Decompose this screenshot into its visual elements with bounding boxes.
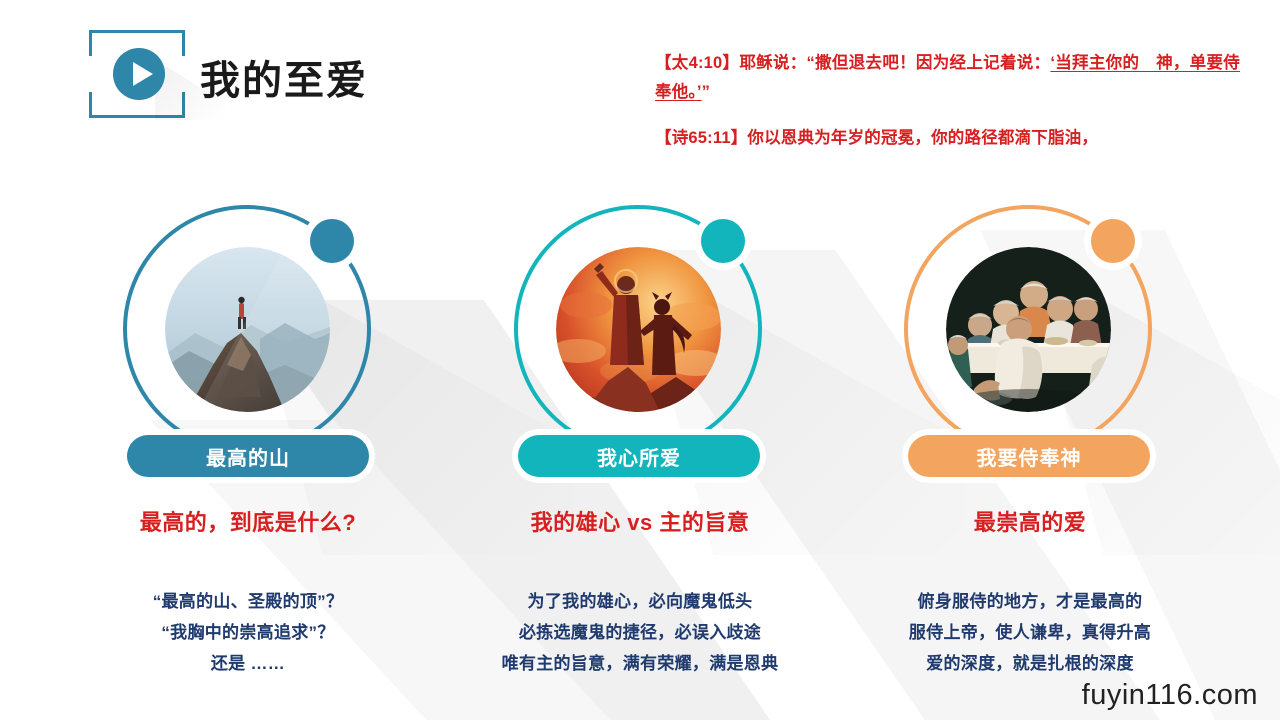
body-line: 唯有主的旨意，满有荣耀，满是恩典 (450, 648, 830, 679)
column-heading-2: 我的雄心 vs 主的旨意 (470, 505, 810, 537)
card-accent-dot (310, 219, 354, 263)
body-line: 还是 …… (78, 648, 418, 679)
frame-right-top-stub (182, 30, 185, 56)
frame-left-top-stub (89, 30, 92, 56)
body-line: “最高的山、圣殿的顶”？ (78, 586, 418, 617)
mountain-summit-climber-photo (165, 247, 330, 412)
site-watermark: fuyin116.com (1082, 679, 1258, 712)
body-line: 服侍上帝，使人谦卑，真得升高 (862, 617, 1198, 648)
card-accent-dot (701, 219, 745, 263)
card-accent-dot (1091, 219, 1135, 263)
verse1-plain-a: 【太4:10】耶稣说：“撒但退去吧！因为经上记着说： (655, 54, 1050, 72)
frame-left-bot-stub (89, 92, 92, 118)
verse1-underline-a: ‘当拜 (1050, 54, 1089, 72)
scripture-block: 【太4:10】耶稣说：“撒但退去吧！因为经上记着说：‘当拜主你的 神，单要侍奉他… (655, 49, 1240, 153)
body-line: 爱的深度，就是扎根的深度 (862, 648, 1198, 679)
page-title: 我的至爱 (200, 48, 368, 106)
jesus-washing-feet-painting (946, 247, 1111, 412)
verse1-plain-b: ” (702, 83, 710, 101)
column-heading-3: 最崇高的爱 (860, 505, 1200, 537)
play-triangle-icon (133, 62, 153, 86)
body-line: 必拣选魔鬼的捷径，必误入歧途 (450, 617, 830, 648)
scripture-verse-2: 【诗65:11】你以恩典为年岁的冠冕，你的路径都滴下脂油， (655, 124, 1240, 153)
column-body-1: “最高的山、圣殿的顶”？ “我胸中的崇高追求”？ 还是 …… (78, 586, 418, 679)
frame-top-edge (89, 30, 185, 33)
play-button-frame-icon (89, 30, 185, 118)
card-row: 最高的山 (0, 195, 1280, 515)
column-heading-1: 最高的，到底是什么? (78, 505, 418, 537)
scripture-verse-1: 【太4:10】耶稣说：“撒但退去吧！因为经上记着说：‘当拜主你的 神，单要侍奉他… (655, 49, 1240, 107)
jesus-and-devil-illustration (556, 247, 721, 412)
card-label-pill[interactable]: 最高的山 (127, 435, 369, 477)
column-body-3: 俯身服侍的地方，才是最高的 服侍上帝，使人谦卑，真得升高 爱的深度，就是扎根的深… (862, 586, 1198, 679)
body-line: 为了我的雄心，必向魔鬼低头 (450, 586, 830, 617)
card-label-pill[interactable]: 我要侍奉神 (908, 435, 1150, 477)
card-label-pill[interactable]: 我心所爱 (518, 435, 760, 477)
body-line: “我胸中的崇高追求”？ (78, 617, 418, 648)
body-line: 俯身服侍的地方，才是最高的 (862, 586, 1198, 617)
column-body-2: 为了我的雄心，必向魔鬼低头 必拣选魔鬼的捷径，必误入歧途 唯有主的旨意，满有荣耀… (450, 586, 830, 679)
